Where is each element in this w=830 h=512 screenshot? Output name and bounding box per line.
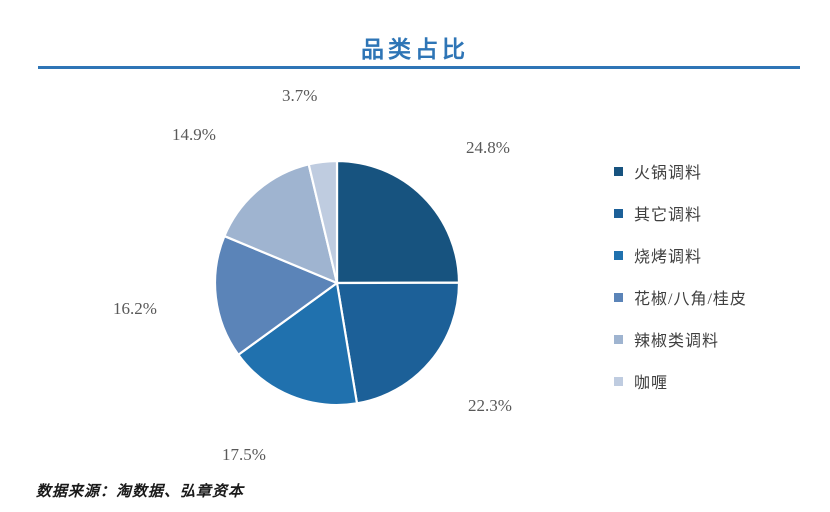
- source-note: 数据来源：淘数据、弘章资本: [36, 480, 244, 501]
- pie-slice[interactable]: [337, 283, 459, 404]
- pie-slice[interactable]: [337, 161, 459, 283]
- legend-item-label: 烧烤调料: [634, 243, 702, 267]
- legend-item-label: 咖喱: [634, 369, 668, 393]
- pie-data-label: 14.9%: [172, 125, 216, 145]
- legend-color-swatch-icon: [614, 377, 623, 386]
- legend-item[interactable]: 其它调料: [614, 192, 814, 234]
- legend-color-swatch-icon: [614, 335, 623, 344]
- page-title: 品类占比: [0, 30, 830, 64]
- chart-legend: 火锅调料 其它调料 烧烤调料 花椒/八角/桂皮 辣椒类调料 咖喱: [614, 150, 814, 402]
- pie-data-label: 16.2%: [113, 299, 157, 319]
- legend-item[interactable]: 辣椒类调料: [614, 318, 814, 360]
- legend-color-swatch-icon: [614, 251, 623, 260]
- pie-data-label: 22.3%: [468, 396, 512, 416]
- legend-item[interactable]: 咖喱: [614, 360, 814, 402]
- legend-color-swatch-icon: [614, 293, 623, 302]
- pie-slice-group: [215, 161, 459, 405]
- legend-color-swatch-icon: [614, 209, 623, 218]
- legend-item[interactable]: 火锅调料: [614, 150, 814, 192]
- legend-item-label: 辣椒类调料: [634, 327, 719, 351]
- pie-data-label: 17.5%: [222, 445, 266, 465]
- legend-item-label: 花椒/八角/桂皮: [634, 285, 747, 309]
- legend-item-label: 其它调料: [634, 201, 702, 225]
- title-divider: [38, 66, 800, 69]
- legend-item[interactable]: 烧烤调料: [614, 234, 814, 276]
- legend-item-label: 火锅调料: [634, 159, 702, 183]
- legend-item[interactable]: 花椒/八角/桂皮: [614, 276, 814, 318]
- pie-data-label: 3.7%: [282, 86, 317, 106]
- pie-data-label: 24.8%: [466, 138, 510, 158]
- legend-color-swatch-icon: [614, 167, 623, 176]
